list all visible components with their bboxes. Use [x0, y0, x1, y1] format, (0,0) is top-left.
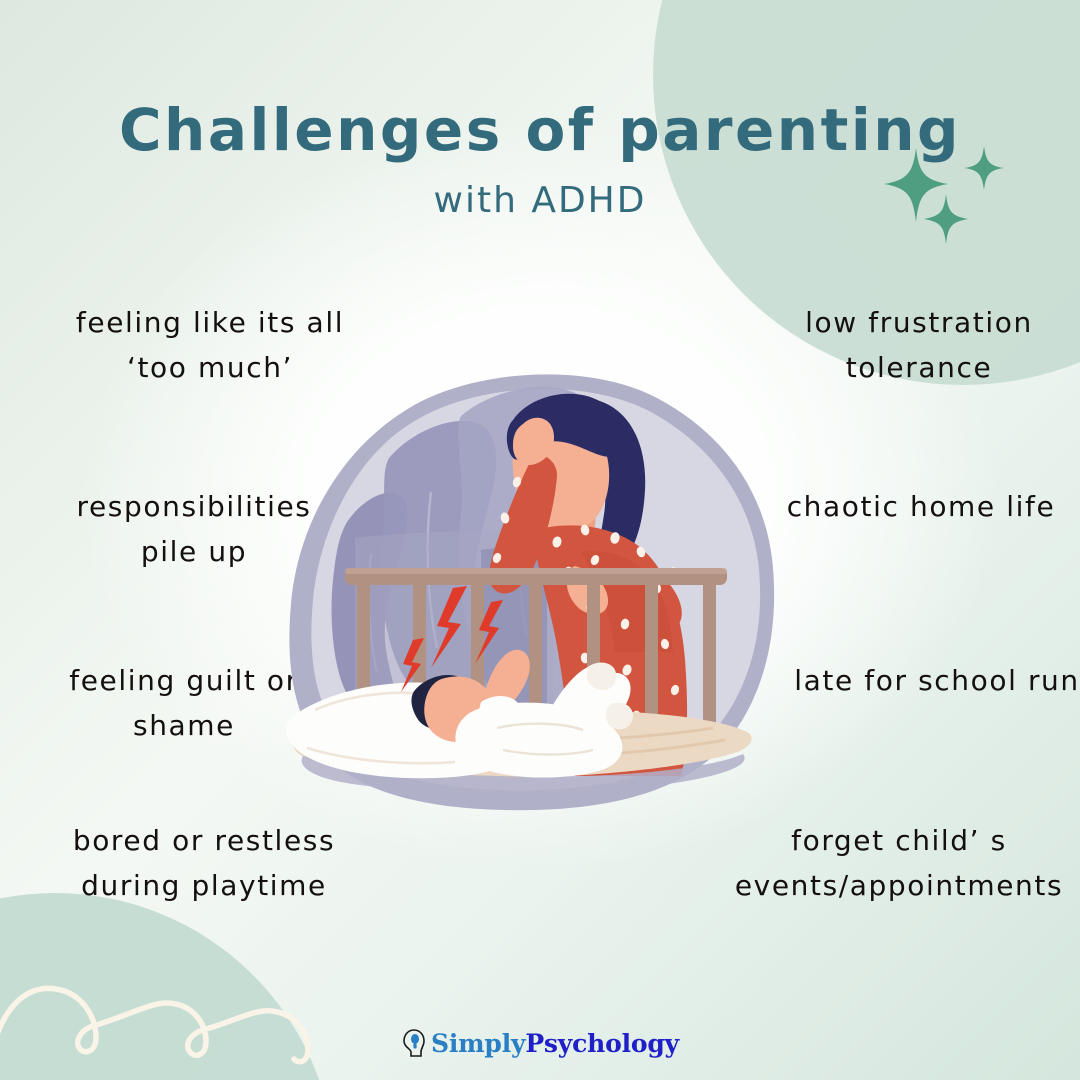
- challenge-label-school-run: late for school run: [772, 658, 1080, 703]
- logo-word-simply: Simply: [431, 1029, 525, 1058]
- page-subtitle: with ADHD: [0, 180, 1080, 221]
- illustration-mother-and-crib: [285, 372, 795, 822]
- decorative-loop-line: [0, 955, 360, 1080]
- challenge-label-frustration: low frustration tolerance: [758, 300, 1080, 391]
- challenge-label-chaotic: chaotic home life: [760, 484, 1080, 529]
- baby-foot-2: [606, 703, 633, 730]
- head-lightbulb-icon: [401, 1028, 427, 1058]
- challenge-label-forget: forget child’ s events/appointments: [718, 818, 1080, 909]
- page-title: Challenges of parenting: [0, 96, 1080, 164]
- brand-logo[interactable]: SimplyPsychology: [0, 1028, 1080, 1058]
- crib-rail-highlight: [345, 568, 727, 574]
- logo-word-psychology: Psychology: [525, 1029, 679, 1058]
- infographic-canvas: Challenges of parenting with ADHD feelin…: [0, 0, 1080, 1080]
- challenge-label-bored: bored or restless during playtime: [34, 818, 374, 909]
